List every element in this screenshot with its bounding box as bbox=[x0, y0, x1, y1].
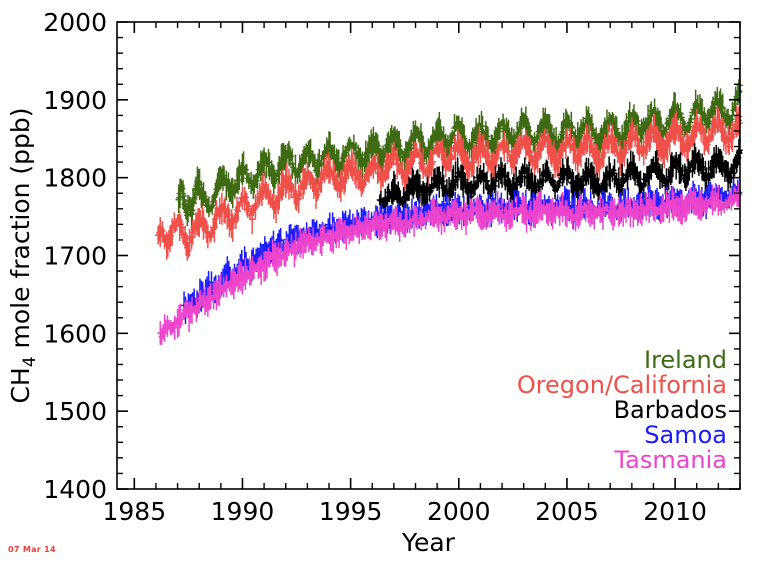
legend-item-tasmania: Tasmania bbox=[613, 446, 727, 474]
y-tick-label: 1700 bbox=[43, 242, 107, 271]
figure-canvas: 1985199019952000200520101400150016001700… bbox=[0, 0, 770, 568]
x-tick-label: 1985 bbox=[102, 497, 166, 526]
date-stamp: 07 Mar 14 bbox=[8, 545, 56, 554]
y-tick-label: 1600 bbox=[43, 319, 107, 348]
legend-item-samoa: Samoa bbox=[644, 421, 727, 449]
y-axis-title: CH4 mole fraction (ppb) bbox=[6, 107, 40, 403]
x-tick-label: 1990 bbox=[211, 497, 275, 526]
y-tick-label: 1900 bbox=[43, 86, 107, 115]
legend-item-barbados: Barbados bbox=[614, 396, 727, 424]
x-tick-label: 2000 bbox=[427, 497, 491, 526]
axis-labels: 1985199019952000200520101400150016001700… bbox=[6, 8, 707, 557]
legend: IrelandOregon/CaliforniaBarbadosSamoaTas… bbox=[517, 346, 727, 474]
legend-item-oregon-california: Oregon/California bbox=[517, 371, 727, 399]
y-tick-label: 1500 bbox=[43, 397, 107, 426]
x-tick-label: 2005 bbox=[535, 497, 599, 526]
y-tick-label: 1800 bbox=[43, 164, 107, 193]
x-axis-title: Year bbox=[401, 528, 456, 557]
legend-item-ireland: Ireland bbox=[644, 346, 727, 374]
y-tick-label: 1400 bbox=[43, 475, 107, 504]
x-tick-label: 2010 bbox=[643, 497, 707, 526]
chart-svg: 1985199019952000200520101400150016001700… bbox=[0, 0, 770, 568]
data-layer bbox=[155, 70, 743, 345]
y-tick-label: 2000 bbox=[43, 8, 107, 37]
x-tick-label: 1995 bbox=[319, 497, 383, 526]
